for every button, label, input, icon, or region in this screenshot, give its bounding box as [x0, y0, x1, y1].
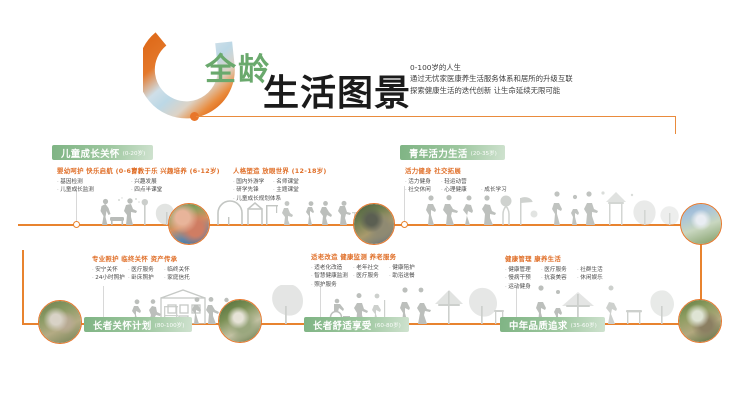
stage-badge-age: (20-35岁)	[471, 149, 497, 157]
infographic-canvas: 全龄 生活图景 0-100岁的人生 通过无忧家医康养生活服务体系和居所的升级互联…	[0, 0, 740, 416]
detail-youth-fitness: 活力健身 社交拓展 活力健身 轻运动营 社交休闲 心理健康 成长学习	[405, 166, 515, 195]
page-title-primary: 全龄	[205, 44, 271, 89]
detail-midlife-health: 健康管理 康养生活 健康管理 医疗服务 社群生活 慢病干预 抗衰美容 休闲娱乐 …	[505, 254, 627, 291]
silhouette-tree-left	[265, 285, 307, 324]
list-item: 健康陪护	[389, 264, 421, 272]
detail-items: 国内外游学 名师课堂 研学先锋 主题课堂 儿童成长规划体系	[233, 178, 333, 203]
silhouette-seniors-leisure	[396, 286, 506, 324]
list-item: 抗衰美容	[541, 274, 577, 282]
list-item: 老年社交	[353, 264, 389, 272]
midlife-activity-photo[interactable]	[678, 299, 722, 343]
list-item: 家庭信托	[164, 274, 196, 282]
list-item: 24小时照护	[92, 274, 128, 282]
list-item: 儿童成长监测	[57, 186, 141, 194]
youth-group-photo[interactable]	[353, 203, 395, 245]
detail-senior-comfort: 适老改造 健康监测 养老服务 适老化改造 老年社交 健康陪护 智慧健康监测 医疗…	[311, 252, 427, 289]
stage-badge-midlife[interactable]: 中年品质追求 (35-60岁)	[500, 317, 605, 332]
list-item: 国内外游学	[233, 178, 273, 186]
silhouette-teens-study	[302, 200, 360, 225]
timeline-left-connector	[22, 250, 24, 324]
subtitle-line-2: 通过无忧家医康养生活服务体系和居所的升级互联	[410, 73, 573, 84]
header-rule	[196, 116, 676, 117]
stage-badge-age: (0-20岁)	[123, 149, 146, 157]
detail-items: 安宁关怀 医疗服务 临终关怀 24小时照护 卧床照护 家庭信托	[92, 266, 198, 283]
stage-badge-elder-care[interactable]: 长者关怀计划 (80-100岁)	[84, 317, 192, 332]
detail-children-character: 人格塑造 放眼世界 (12-18岁) 国内外游学 名师课堂 研学先锋 主题课堂 …	[233, 166, 333, 203]
detail-items: 健康管理 医疗服务 社群生活 慢病干预 抗衰美容 休闲娱乐 运动健身	[505, 266, 625, 291]
young-couple-outdoor-photo[interactable]	[680, 203, 722, 245]
stage-badge-name: 长者舒适享受	[313, 318, 372, 332]
stage-badge-name: 儿童成长关怀	[61, 146, 120, 160]
detail-items: 活力健身 轻运动营 社交休闲 心理健康 成长学习	[405, 178, 513, 195]
subtitle-block: 0-100岁的人生 通过无忧家医康养生活服务体系和居所的升级互联 探索健康生活的…	[410, 62, 573, 96]
subtitle-line-1: 0-100岁的人生	[410, 62, 573, 73]
subtitle-line-3: 探索健康生活的迭代创新 让生命延续无限可能	[410, 85, 573, 96]
list-item: 名师课堂	[273, 178, 331, 186]
list-item: 成长学习	[481, 186, 513, 194]
header-rule-end-tick	[675, 116, 676, 134]
list-item: 社群生活	[577, 266, 609, 274]
detail-title: 育教于乐 兴趣培养 (6-12岁)	[131, 166, 220, 175]
stage-badge-age: (60-80岁)	[375, 321, 401, 329]
list-item: 卧床照护	[128, 274, 164, 282]
list-item: 临终关怀	[164, 266, 196, 274]
list-item: 运动健身	[505, 283, 537, 291]
list-item: 医疗服务	[353, 272, 389, 280]
list-item: 研学先锋	[233, 186, 273, 194]
list-item: 健康管理	[505, 266, 541, 274]
list-item: 主题课堂	[273, 186, 301, 194]
list-item: 适老化改造	[311, 264, 353, 272]
timeline-node	[73, 221, 80, 228]
stage-badge-age: (80-100岁)	[155, 321, 185, 329]
list-item: 活力健身	[405, 178, 441, 186]
detail-items: 基因检测 儿童成长监测	[57, 178, 141, 195]
list-item: 儿童成长规划体系	[233, 195, 287, 203]
detail-elder-care: 专业照护 临终关怀 资产传承 安宁关怀 医疗服务 临终关怀 24小时照护 卧床照…	[92, 254, 200, 283]
senior-garden-photo[interactable]	[218, 299, 262, 343]
list-item: 智慧健康监测	[311, 272, 353, 280]
detail-items: 兴趣发展 四点半课堂	[131, 178, 220, 195]
stage-badge-name: 青年活力生活	[409, 146, 468, 160]
stage-badge-senior-comfort[interactable]: 长者舒适享受 (60-80岁)	[304, 317, 409, 332]
list-item: 医疗服务	[128, 266, 164, 274]
detail-title: 专业照护 临终关怀 资产传承	[92, 254, 200, 263]
stage-badge-children[interactable]: 儿童成长关怀 (0-20岁)	[52, 145, 153, 160]
timeline-node	[401, 221, 408, 228]
silhouette-youth-fitness	[420, 194, 540, 225]
list-item: 心理健康	[441, 186, 481, 194]
detail-children-infant: 婴幼呵护 快乐启航 (0-6岁) 基因检测 儿童成长监测	[57, 166, 141, 195]
list-item: 四点半课堂	[131, 186, 220, 194]
list-item: 基因检测	[57, 178, 141, 186]
silhouette-family-park	[548, 190, 688, 225]
list-item: 休闲娱乐	[577, 274, 613, 282]
stage-badge-name: 长者关怀计划	[93, 318, 152, 332]
list-item: 医疗服务	[541, 266, 577, 274]
list-item: 助浴送餐	[389, 272, 425, 280]
detail-items: 适老化改造 老年社交 健康陪护 智慧健康监测 医疗服务 助浴送餐 照护服务	[311, 264, 425, 289]
detail-title: 适老改造 健康监测 养老服务	[311, 252, 427, 261]
list-item: 兴趣发展	[131, 178, 220, 186]
page-title-secondary: 生活图景	[263, 64, 411, 116]
list-item: 社交休闲	[405, 186, 441, 194]
detail-title: 活力健身 社交拓展	[405, 166, 515, 175]
stage-badge-name: 中年品质追求	[509, 318, 568, 332]
detail-title: 健康管理 康养生活	[505, 254, 627, 263]
elderly-couple-walking-photo[interactable]	[38, 300, 82, 344]
list-item: 慢病干预	[505, 274, 541, 282]
stage-badge-youth[interactable]: 青年活力生活 (20-35岁)	[400, 145, 505, 160]
detail-title: 人格塑造 放眼世界 (12-18岁)	[233, 166, 333, 175]
children-sports-photo[interactable]	[168, 203, 210, 245]
detail-children-education: 育教于乐 兴趣培养 (6-12岁) 兴趣发展 四点半课堂	[131, 166, 220, 195]
detail-title: 婴幼呵护 快乐启航 (0-6岁)	[57, 166, 141, 175]
stage-badge-age: (35-60岁)	[571, 321, 597, 329]
list-item: 安宁关怀	[92, 266, 128, 274]
list-item: 照护服务	[311, 281, 343, 289]
list-item: 轻运动营	[441, 178, 481, 186]
